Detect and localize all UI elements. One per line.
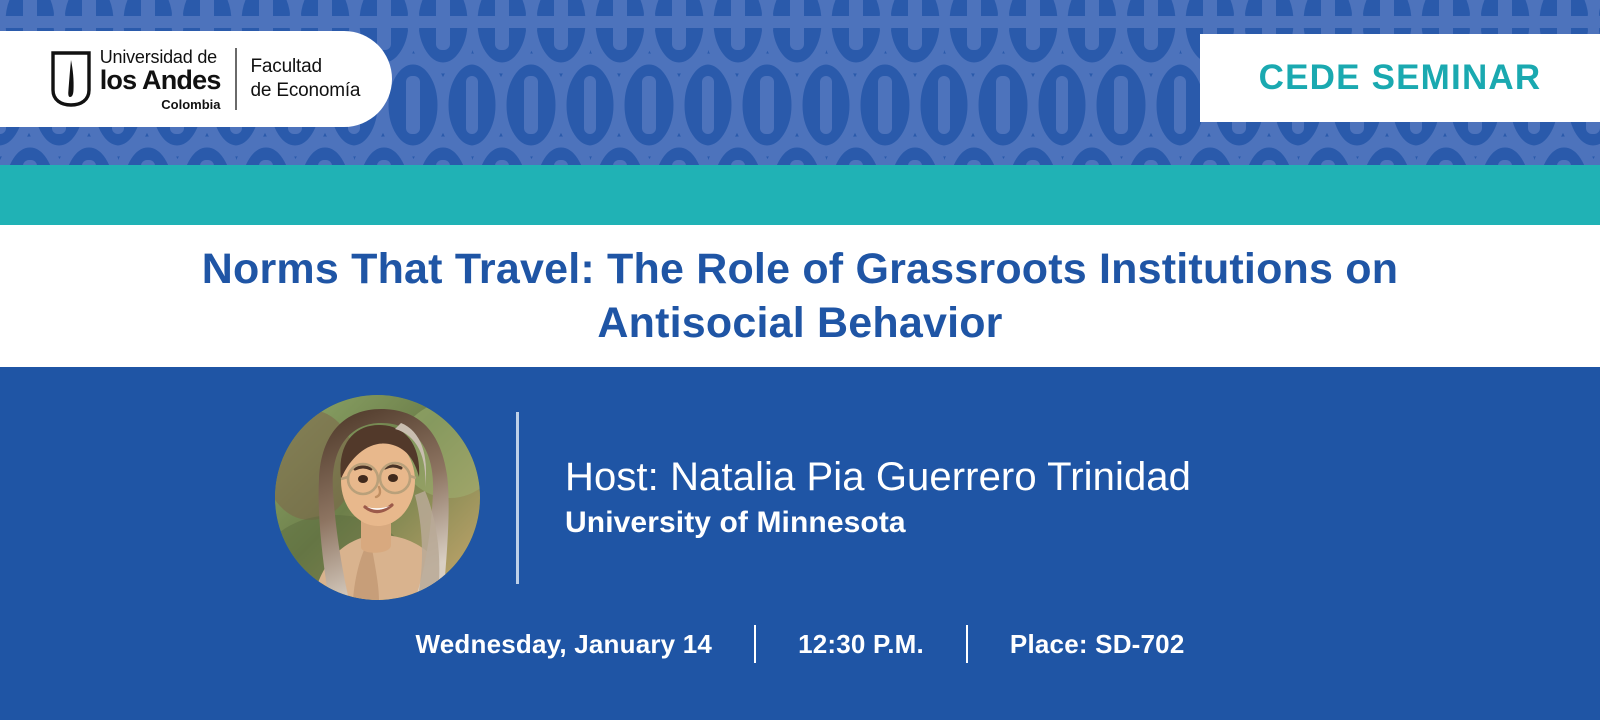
host-affiliation: University of Minnesota (565, 506, 1325, 541)
university-logo-wordmark: Universidad de los Andes Colombia (100, 48, 221, 111)
cede-seminar-label: CEDE SEMINAR (1259, 58, 1542, 98)
university-logo: Universidad de los Andes Colombia Facult… (0, 31, 392, 127)
info-separator-2 (966, 625, 968, 663)
seminar-title: Norms That Travel: The Role of Grassroot… (200, 242, 1400, 350)
host-name: Host: Natalia Pia Guerrero Trinidad (565, 454, 1325, 500)
cede-seminar-badge: CEDE SEMINAR (1200, 34, 1600, 122)
speaker-divider (516, 412, 519, 584)
info-separator-1 (754, 625, 756, 663)
title-band: Norms That Travel: The Role of Grassroot… (0, 225, 1600, 367)
seminar-banner: Universidad de los Andes Colombia Facult… (0, 0, 1600, 720)
event-place: Place: SD-702 (1010, 629, 1185, 660)
shield-logo-icon (50, 50, 92, 108)
faculty-name: Facultad de Economía (251, 55, 361, 104)
speaker-row: Host: Natalia Pia Guerrero Trinidad Univ… (0, 395, 1600, 600)
banner-body: Host: Natalia Pia Guerrero Trinidad Univ… (0, 367, 1600, 720)
faculty-line-2: de Economía (251, 79, 361, 103)
event-date: Wednesday, January 14 (415, 629, 712, 660)
logo-line-1: Universidad de (100, 48, 221, 66)
event-time: 12:30 P.M. (798, 629, 924, 660)
logo-line-3: Colombia (100, 98, 221, 111)
logo-line-2: los Andes (100, 67, 221, 94)
speaker-portrait (275, 395, 480, 600)
faculty-line-1: Facultad (251, 55, 361, 79)
teal-accent-bar (0, 165, 1600, 225)
speaker-details: Host: Natalia Pia Guerrero Trinidad Univ… (565, 454, 1325, 541)
banner-header: Universidad de los Andes Colombia Facult… (0, 0, 1600, 165)
logo-divider (235, 48, 237, 110)
event-info-row: Wednesday, January 14 12:30 P.M. Place: … (0, 625, 1600, 663)
